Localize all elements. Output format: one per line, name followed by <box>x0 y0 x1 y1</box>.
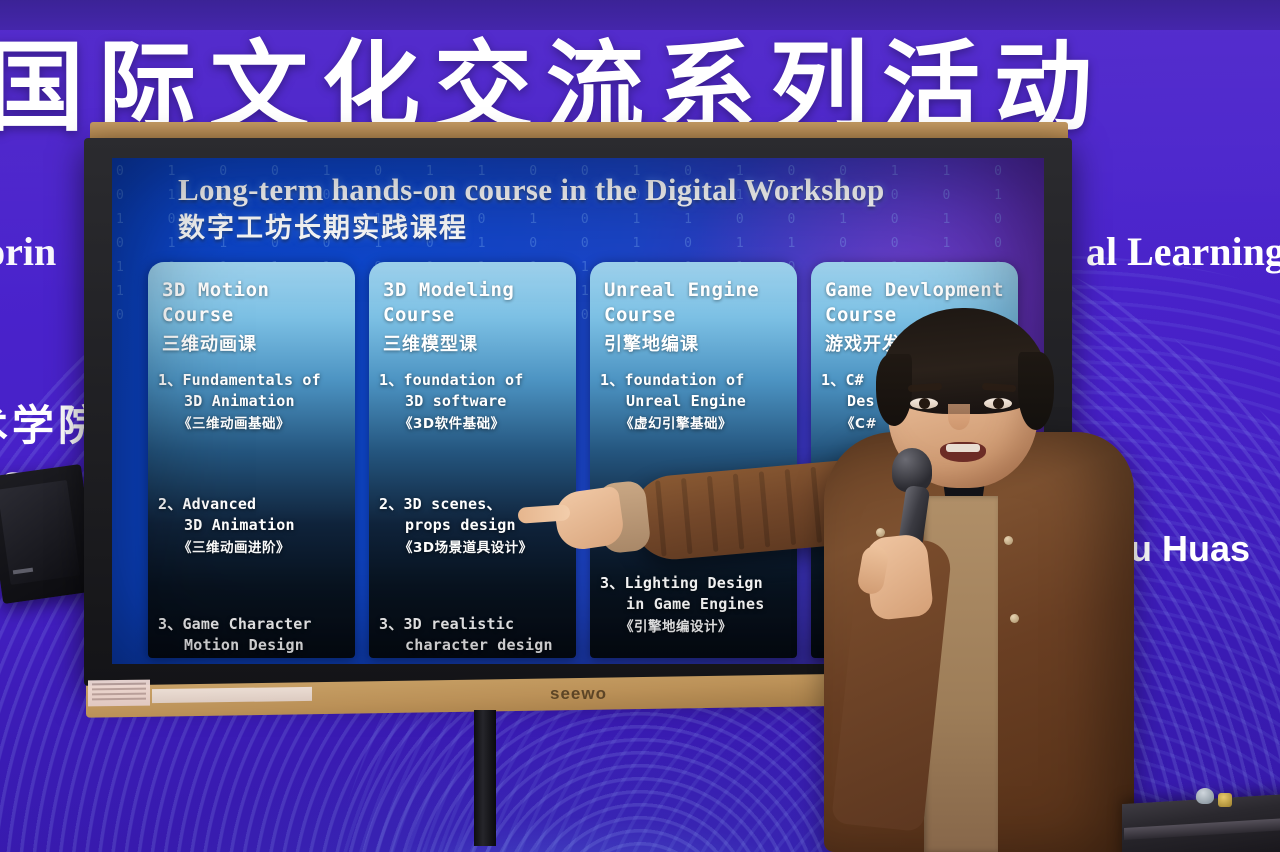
presenter-hair-side-left <box>876 354 912 426</box>
presenter-hair-side-right <box>1018 352 1054 430</box>
seewo-brand-logo: seewo <box>550 684 670 704</box>
presenter <box>772 300 1172 852</box>
banner-left-en-line1: lorin <box>0 228 56 275</box>
presenter-eye-right <box>984 398 1012 409</box>
presenter-eye-left <box>910 398 938 409</box>
display-stand <box>474 710 496 846</box>
table-object-gold <box>1218 793 1232 807</box>
display-asset-sticker <box>88 680 150 707</box>
presenter-nose <box>948 404 970 430</box>
banner-right-en-line1: al Learning <box>1086 228 1280 275</box>
table-object-silver <box>1196 788 1214 804</box>
display-asset-sticker-secondary <box>152 687 312 703</box>
presentation-photo: 国际文化交流系列活动 lorin 术学院 t Sc Co al Learning… <box>0 0 1280 852</box>
presenter-mouth <box>940 442 986 462</box>
